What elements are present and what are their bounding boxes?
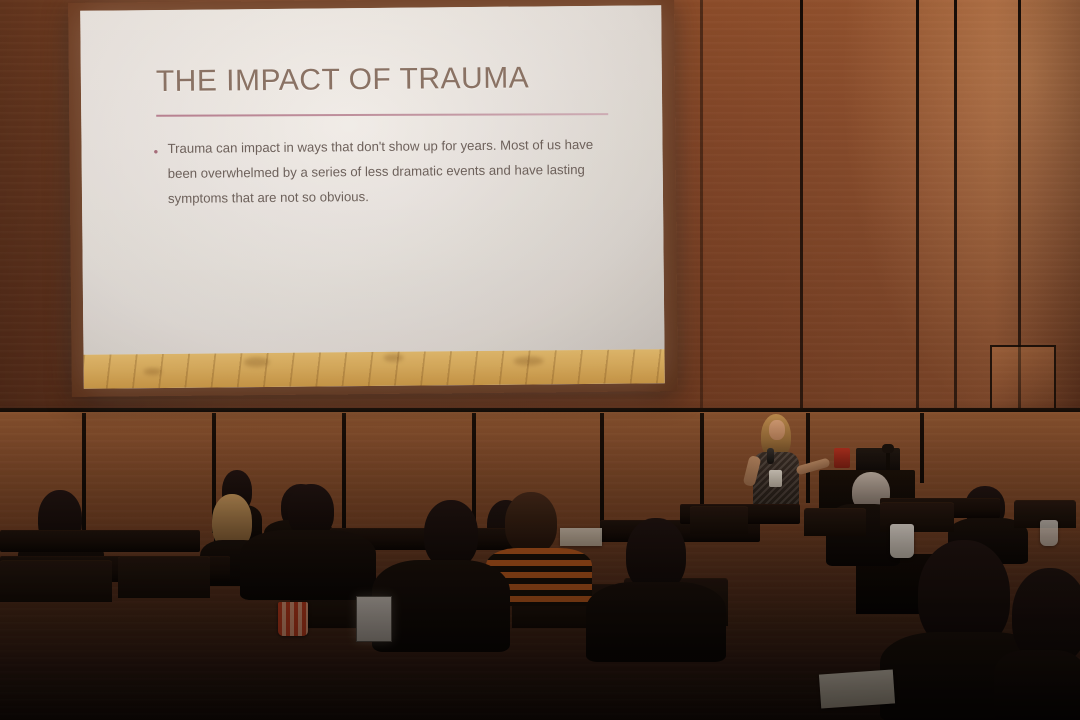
- wall-mullion: [920, 413, 924, 483]
- seat-back: [804, 508, 866, 536]
- notebook-paper: [819, 669, 895, 708]
- wall-mullion: [342, 413, 346, 533]
- attendee-head: [505, 492, 557, 554]
- seat-back: [118, 556, 210, 598]
- speaker-name-badge: [769, 470, 782, 487]
- attendee-head: [626, 518, 686, 592]
- projection-screen: THE IMPACT OF TRAUMA • Trauma can impact…: [80, 5, 665, 389]
- attendee-head: [424, 500, 478, 568]
- wall-panel-seam: [954, 0, 957, 412]
- slide-stage-floor-image: [84, 349, 665, 389]
- speaker-face: [769, 420, 785, 440]
- wall-door-frame: [990, 345, 1056, 412]
- seat-back: [690, 506, 748, 534]
- wall-panel-seam: [800, 0, 803, 412]
- coffee-cup: [890, 524, 914, 558]
- seat-row: [0, 530, 200, 552]
- handheld-microphone: [767, 448, 774, 464]
- attendee-torso: [994, 650, 1080, 720]
- slide-bullet-text: Trauma can impact in ways that don't sho…: [153, 132, 624, 212]
- wall-mullion: [82, 413, 86, 533]
- seat-back: [0, 560, 112, 602]
- attendee-torso: [586, 582, 726, 662]
- wall-panel-seam: [700, 0, 703, 412]
- slide-title-underline: [156, 113, 608, 117]
- coffee-cup: [1040, 520, 1058, 546]
- popcorn-container: [278, 602, 308, 636]
- attendee-torso: [372, 560, 510, 652]
- wall-mullion: [806, 413, 810, 503]
- wall-panel-seam: [916, 0, 919, 412]
- wall-mullion: [600, 413, 604, 533]
- open-laptop: [356, 596, 392, 642]
- microphone-head: [882, 444, 894, 453]
- presentation-slide: THE IMPACT OF TRAUMA • Trauma can impact…: [80, 5, 664, 355]
- red-cup: [834, 448, 850, 468]
- slide-bullet-list: • Trauma can impact in ways that don't s…: [153, 132, 624, 212]
- presentation-scene: THE IMPACT OF TRAUMA • Trauma can impact…: [0, 0, 1080, 720]
- projector-box: [560, 528, 602, 546]
- bullet-glyph: •: [153, 139, 158, 164]
- attendee-torso: [240, 530, 376, 600]
- slide-title: THE IMPACT OF TRAUMA: [156, 61, 626, 100]
